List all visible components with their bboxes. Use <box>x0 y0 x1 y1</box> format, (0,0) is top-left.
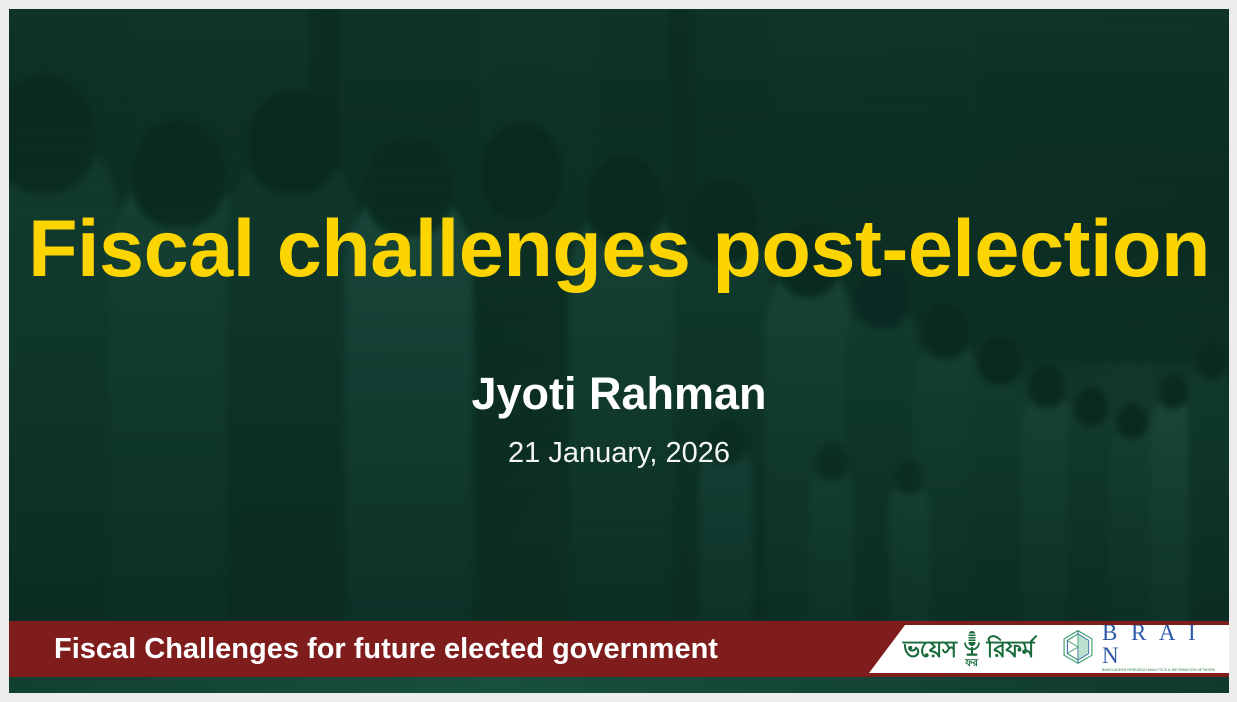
brain-wordmark-block: B R A I N BANGLADESH RESEARCH ANALYTICS … <box>1102 621 1229 677</box>
presentation-date: 21 January, 2026 <box>9 437 1229 470</box>
brain-tagline-primary: BANGLADESH RESEARCH ANALYTICS & INFORMAT… <box>1102 669 1215 673</box>
brain-wordmark: B R A I N <box>1102 621 1229 667</box>
slide-viewer: Fiscal challenges post-election Jyoti Ra… <box>0 0 1237 702</box>
brain-logo[interactable]: B R A I N BANGLADESH RESEARCH ANALYTICS … <box>1060 621 1229 677</box>
vfr-bengali-sub: ফর <box>965 659 978 669</box>
background-photo <box>9 9 1229 693</box>
slide-title: Fiscal challenges post-election <box>9 207 1229 292</box>
person-head <box>923 303 969 359</box>
voice-for-reform-logo[interactable]: ভয়েস ফর র <box>903 630 1034 668</box>
logo-panel: ভয়েস ফর র <box>869 625 1229 673</box>
street-backdrop <box>969 9 1229 174</box>
footer-banner: Fiscal Challenges for future elected gov… <box>9 621 1229 677</box>
vfr-bengali-left: ভয়েস <box>903 638 957 661</box>
microphone-icon: ফর <box>959 630 985 668</box>
hexagon-diamond-icon <box>1060 629 1096 670</box>
person-head <box>248 90 338 194</box>
footer-base-strip <box>9 677 1229 693</box>
vfr-bengali-right: রিফর্ম <box>987 638 1034 661</box>
presenter-name: Jyoti Rahman <box>9 369 1229 419</box>
presentation-slide[interactable]: Fiscal challenges post-election Jyoti Ra… <box>9 9 1229 693</box>
footer-banner-text: Fiscal Challenges for future elected gov… <box>54 621 718 677</box>
street-backdrop <box>769 9 979 184</box>
